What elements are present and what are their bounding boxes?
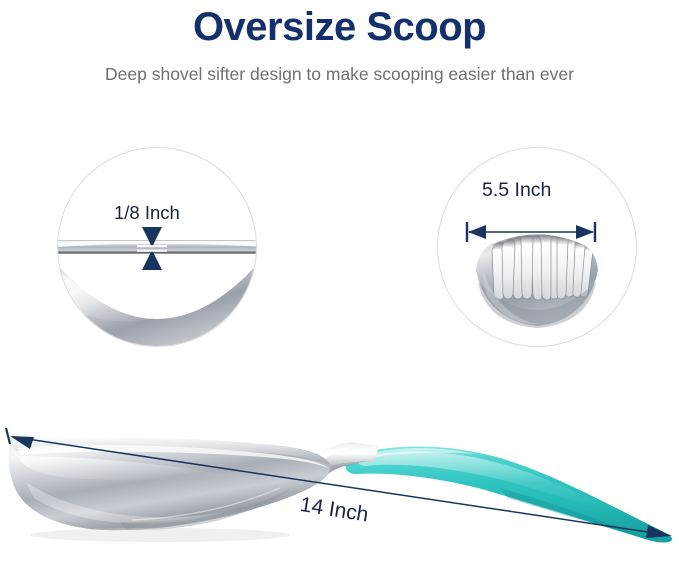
- sifter-slot-group: [492, 234, 593, 300]
- width-arrow-head-left: [468, 225, 486, 239]
- sifter-slot: [521, 235, 533, 299]
- edge-metal-body: [58, 240, 256, 346]
- callout-edge-thickness: 1/8 Inch: [57, 147, 257, 347]
- infographic-canvas: Oversize Scoop Deep shovel sifter design…: [0, 0, 679, 563]
- length-arrow-head-right: [646, 525, 672, 538]
- sifter-width-illustration: [438, 148, 636, 346]
- sifter-head-group: [476, 234, 598, 328]
- sifter-width-label: 5.5 Inch: [482, 179, 551, 202]
- header: Oversize Scoop Deep shovel sifter design…: [0, 0, 679, 85]
- length-arrow-left-cap: [6, 428, 10, 444]
- product-bowl: [8, 437, 330, 530]
- product-illustration-scoop: [0, 396, 679, 563]
- sifter-slot: [502, 239, 515, 299]
- product-drop-shadow: [30, 528, 290, 542]
- edge-thickness-illustration: [58, 148, 256, 346]
- width-arrow-head-right: [576, 225, 594, 239]
- page-title: Oversize Scoop: [0, 0, 679, 50]
- thickness-gap-tick-upper: [137, 245, 167, 247]
- callout-sifter-width: 5.5 Inch: [437, 147, 637, 347]
- page-subtitle: Deep shovel sifter design to make scoopi…: [0, 50, 679, 85]
- edge-thickness-label: 1/8 Inch: [114, 202, 180, 224]
- thickness-gap-tick-lower: [137, 250, 167, 252]
